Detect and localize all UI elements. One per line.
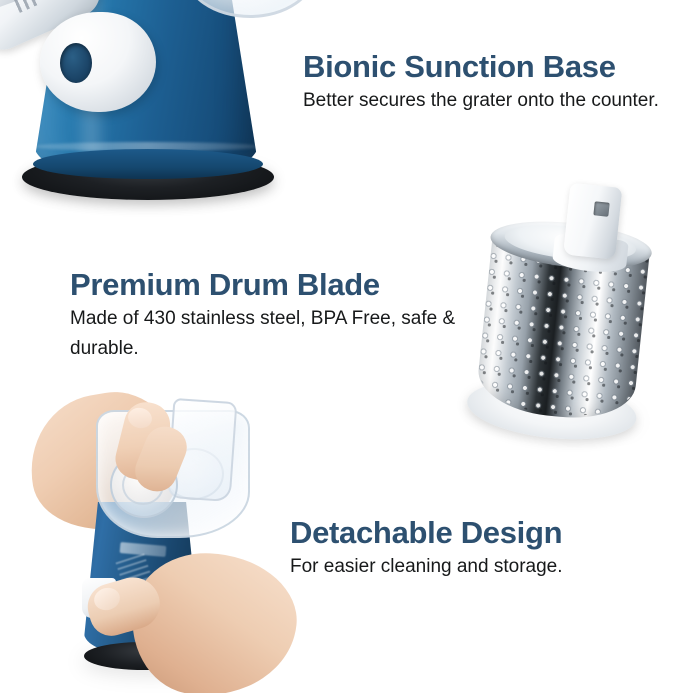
drum-white-shaft <box>563 183 622 260</box>
product-photo-detachable-design <box>24 392 292 693</box>
feature-body-drum-blade: Made of 430 stainless steel, BPA Free, s… <box>70 304 470 364</box>
white-crank-knob <box>40 12 156 112</box>
infographic-page: Bionic Sunction Base Better secures the … <box>0 0 679 693</box>
product-photo-suction-base <box>0 0 300 211</box>
product-photo-drum-blade <box>456 178 679 469</box>
cone-bottom-rim <box>33 149 263 179</box>
feature-heading-detachable-design: Detachable Design <box>290 514 670 552</box>
feature-body-detachable-design: For easier cleaning and storage. <box>290 552 670 582</box>
feature-block-detachable-design: Detachable Design For easier cleaning an… <box>290 514 670 582</box>
feature-block-drum-blade: Premium Drum Blade Made of 430 stainless… <box>70 266 470 364</box>
feature-body-suction-base: Better secures the grater onto the count… <box>303 86 673 116</box>
crank-knob-socket <box>60 43 92 83</box>
feature-heading-suction-base: Bionic Sunction Base <box>303 48 673 86</box>
feature-heading-drum-blade: Premium Drum Blade <box>70 266 470 304</box>
drum-shaft-square-socket <box>593 201 609 216</box>
feature-block-suction-base: Bionic Sunction Base Better secures the … <box>303 48 673 116</box>
